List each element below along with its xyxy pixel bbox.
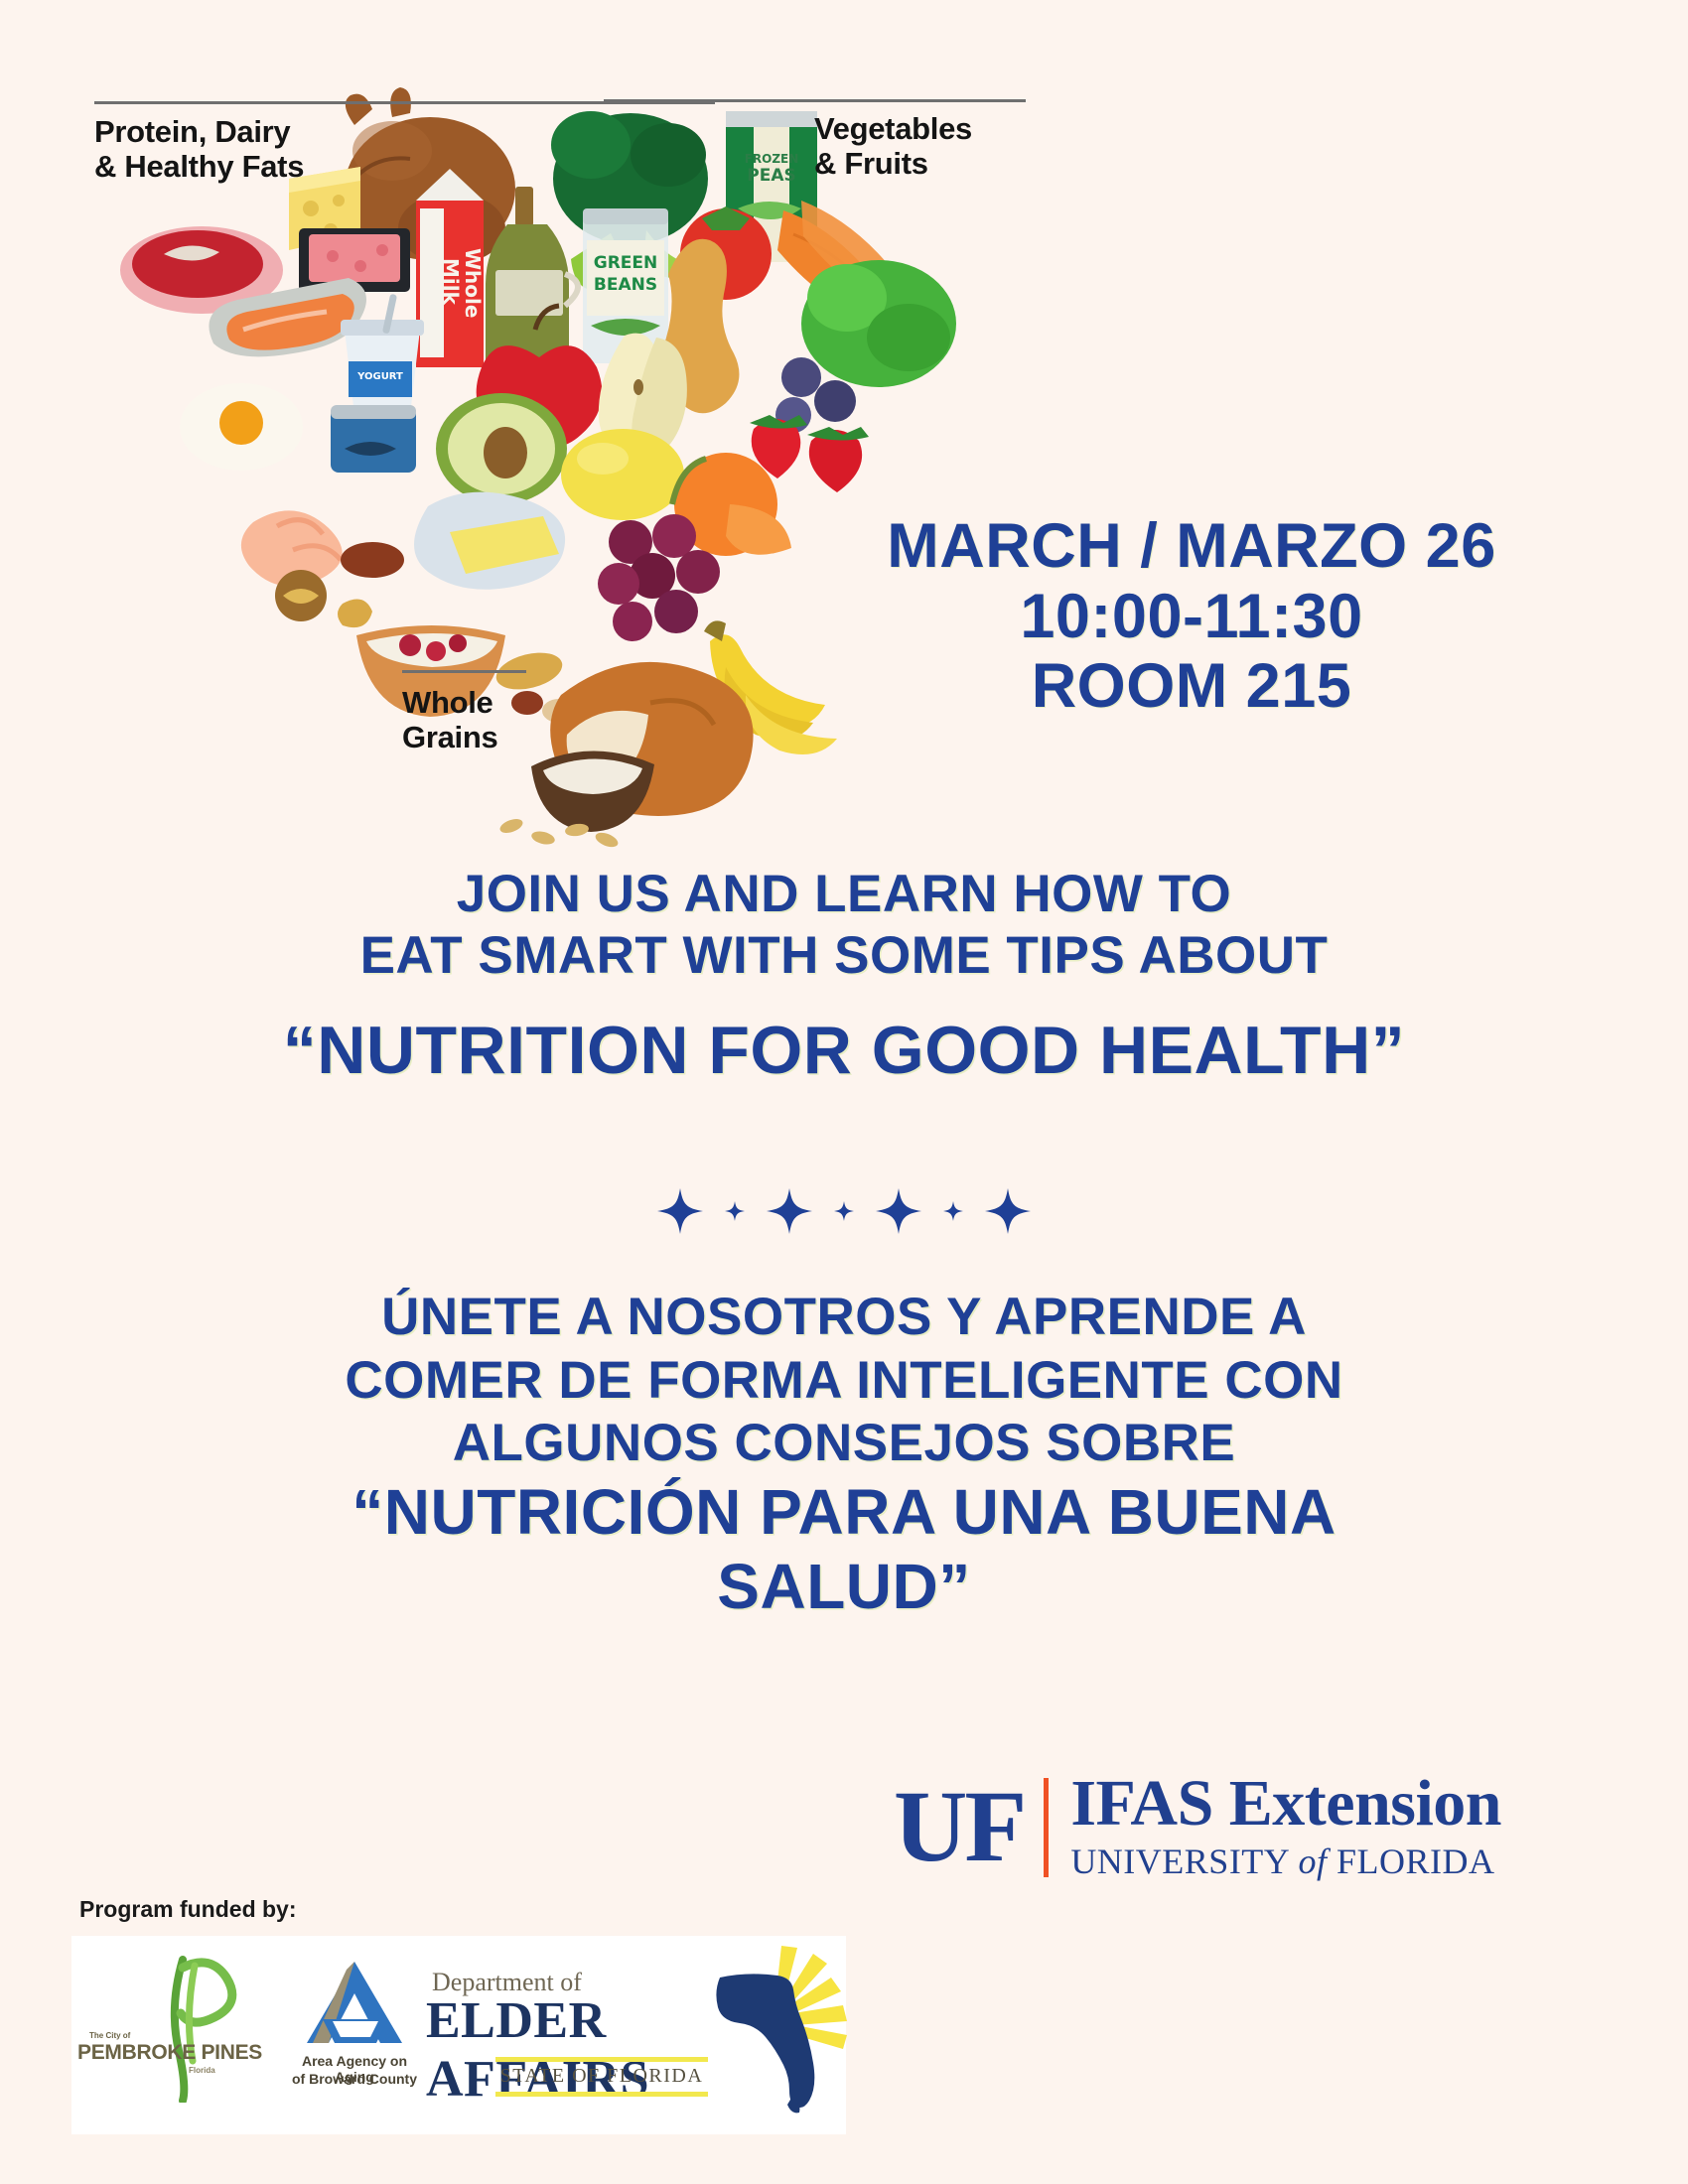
uf-divider-bar	[1044, 1778, 1049, 1877]
protein-group-label: Protein, Dairy & Healthy Fats	[94, 114, 304, 184]
univ-pre: UNIVERSITY	[1070, 1842, 1298, 1881]
event-time: 10:00-11:30	[804, 582, 1579, 652]
elder-affairs-state-text: STATE OF FLORIDA	[500, 2065, 704, 2087]
headline-es-title-line2: SALUD”	[0, 1550, 1688, 1625]
vegetables-group-label: Vegetables & Fruits	[814, 111, 972, 181]
university-of-florida-text: UNIVERSITY of FLORIDA	[1070, 1841, 1501, 1882]
headline-es-line3: ALGUNOS CONSEJOS SOBRE	[0, 1412, 1688, 1475]
event-details: MARCH / MARZO 26 10:00-11:30 ROOM 215	[804, 511, 1579, 722]
svg-text:Whole: Whole	[461, 248, 485, 318]
headline-es-line2: COMER DE FORMA INTELIGENTE CON	[0, 1349, 1688, 1413]
pembroke-tiny-text: The City of	[89, 2031, 130, 2040]
svg-text:FROZEN: FROZEN	[745, 152, 799, 166]
sparkle-dot-icon	[943, 1201, 963, 1221]
milk-carton-icon: Whole Milk	[416, 169, 485, 367]
funder-logos-panel: The City of PEMBROKE PINES Florida Area …	[71, 1936, 846, 2134]
whole-grains-group-label: Whole Grains	[402, 685, 497, 754]
event-room: ROOM 215	[804, 651, 1579, 722]
sparkle-divider	[0, 1176, 1688, 1246]
pembroke-sub-text: Florida	[189, 2066, 215, 2075]
headline-es-title-line1: “NUTRICIÓN PARA UNA BUENA	[0, 1475, 1688, 1551]
headline-en-title: “NUTRITION FOR GOOD HEALTH”	[0, 1011, 1688, 1090]
headline-spanish: ÚNETE A NOSOTROS Y APRENDE A COMER DE FO…	[0, 1286, 1688, 1625]
vegetables-label-rule	[604, 99, 1026, 102]
univ-post: FLORIDA	[1327, 1842, 1494, 1881]
svg-text:BEANS: BEANS	[594, 275, 657, 295]
sparkle-icon	[657, 1188, 703, 1234]
sparkle-icon	[985, 1188, 1031, 1234]
uf-wordmark: IFAS Extension UNIVERSITY of FLORIDA	[1070, 1772, 1501, 1881]
headline-english: JOIN US AND LEARN HOW TO EAT SMART WITH …	[0, 864, 1688, 1090]
headline-en-line1: JOIN US AND LEARN HOW TO	[0, 864, 1688, 925]
pembroke-pines-name: PEMBROKE PINES	[77, 2041, 262, 2065]
grains-label-rule	[402, 670, 526, 673]
univ-of: of	[1298, 1842, 1327, 1881]
sparkle-dot-icon	[725, 1201, 745, 1221]
uf-monogram: UF	[894, 1772, 1044, 1881]
sparkle-dot-icon	[834, 1201, 854, 1221]
lemon-icon	[561, 429, 684, 520]
lettuce-icon	[801, 260, 956, 387]
food-groups-illustration: FROZEN PEAS Whole	[94, 60, 1028, 854]
ifas-extension-text: IFAS Extension	[1070, 1771, 1501, 1837]
sparkle-icon	[876, 1188, 921, 1234]
elder-affairs-state-band: STATE OF FLORIDA	[495, 2057, 708, 2097]
walnut-icon	[275, 570, 372, 627]
date-fruit-icon	[341, 542, 404, 578]
avocado-icon	[436, 393, 567, 504]
florida-sunburst-icon	[702, 1944, 851, 2117]
svg-text:YOGURT: YOGURT	[356, 371, 403, 382]
event-date: MARCH / MARZO 26	[804, 511, 1579, 582]
svg-text:PEAS: PEAS	[747, 166, 795, 186]
headline-en-line2: EAT SMART WITH SOME TIPS ABOUT	[0, 925, 1688, 987]
area-agency-triangle-icon	[303, 1958, 407, 2047]
area-agency-line2: of Broward County	[285, 2071, 424, 2087]
fried-egg-icon	[180, 383, 303, 471]
svg-text:GREEN: GREEN	[594, 253, 658, 273]
sparkle-icon	[767, 1188, 812, 1234]
pembroke-pines-logo: The City of PEMBROKE PINES Florida	[71, 1936, 285, 2134]
pembroke-pines-mark-icon	[149, 1954, 240, 2103]
area-agency-on-aging-logo: Area Agency on Aging of Broward County	[285, 1936, 424, 2134]
elder-affairs-logo: Department of ELDER AFFAIRS STATE OF FLO…	[424, 1936, 712, 2134]
headline-es-line1: ÚNETE A NOSOTROS Y APRENDE A	[0, 1286, 1688, 1349]
uf-ifas-extension-logo: UF IFAS Extension UNIVERSITY of FLORIDA	[894, 1772, 1501, 1881]
rice-bowl-icon	[531, 751, 654, 832]
canned-fish-icon	[331, 405, 416, 473]
program-funded-by-label: Program funded by:	[79, 1896, 297, 1923]
florida-state-badge	[712, 1936, 841, 2134]
butter-icon	[414, 492, 565, 590]
svg-text:Milk: Milk	[439, 258, 463, 306]
